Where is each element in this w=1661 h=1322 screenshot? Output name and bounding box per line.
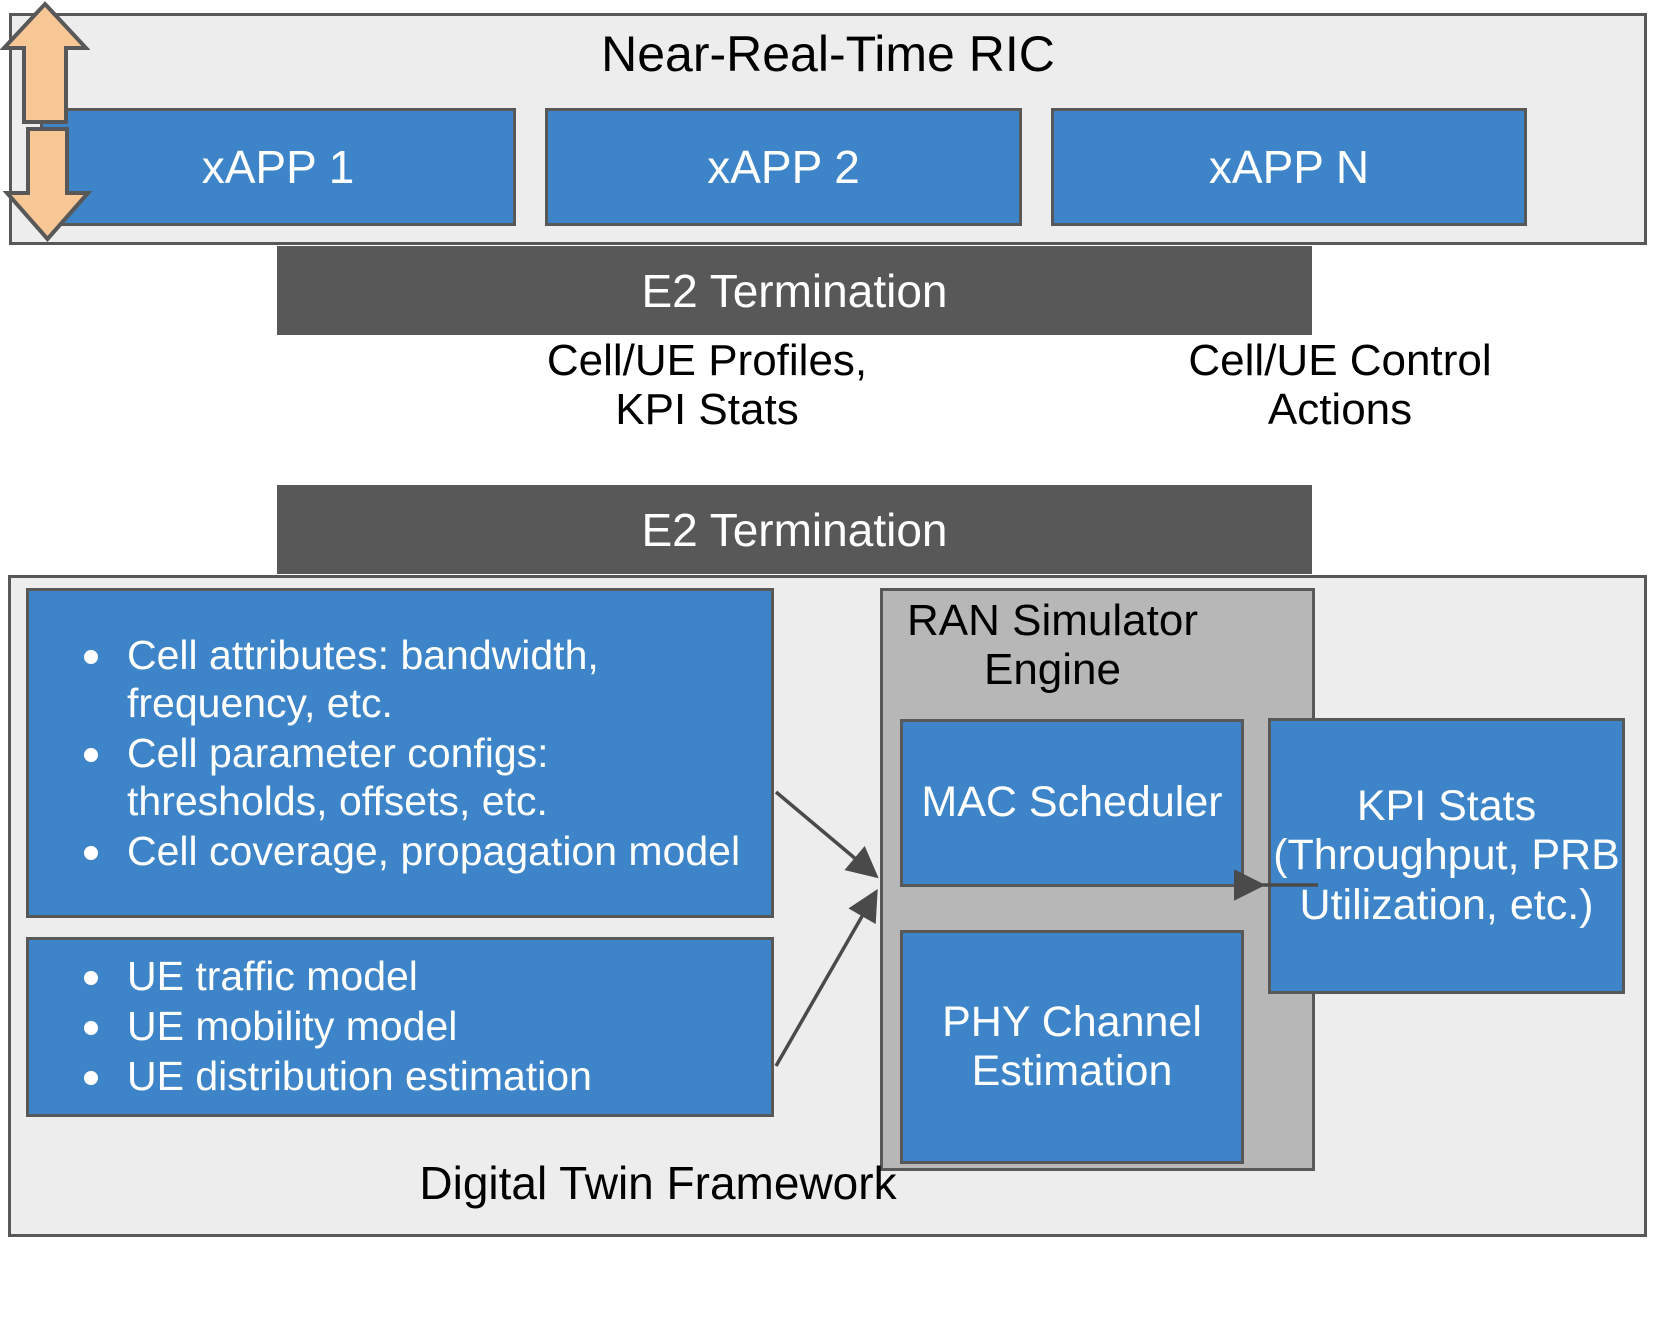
arrow-down-icon	[0, 125, 95, 243]
list-item: Cell attributes: bandwidth, frequency, e…	[29, 632, 755, 728]
ric-title: Near-Real-Time RIC	[9, 26, 1647, 82]
list-item-label: UE mobility model	[127, 1003, 457, 1049]
list-item: UE traffic model	[29, 953, 755, 1001]
list-item-label: Cell attributes: bandwidth, frequency, e…	[127, 632, 599, 726]
list-item-label: Cell coverage, propagation model	[127, 828, 740, 874]
xapp-2-label: xAPP 2	[707, 140, 860, 194]
bullet-dot-icon	[84, 650, 98, 664]
xapp-1-label: xAPP 1	[202, 140, 355, 194]
digital-twin-framework-title: Digital Twin Framework	[8, 1158, 1308, 1210]
architecture-diagram: Near-Real-Time RIC xAPP 1 xAPP 2 xAPP N …	[0, 0, 1661, 1322]
e2-termination-top-bar: E2 Termination	[277, 246, 1312, 335]
bullet-dot-icon	[84, 1021, 98, 1035]
kpi-stats-box: KPI Stats (Throughput, PRB Utilization, …	[1268, 718, 1625, 994]
ran-simulator-engine-title: RAN Simulator Engine	[880, 596, 1225, 695]
mac-scheduler-box: MAC Scheduler	[900, 719, 1244, 887]
list-item: Cell coverage, propagation model	[29, 828, 755, 876]
xapp-n-label: xAPP N	[1209, 140, 1369, 194]
downlink-flow-label: Cell/UE Control Actions	[1140, 336, 1540, 435]
e2-termination-bottom-label: E2 Termination	[642, 503, 948, 557]
list-item: UE mobility model	[29, 1003, 755, 1051]
list-item-label: UE distribution estimation	[127, 1053, 592, 1099]
uplink-flow-label: Cell/UE Profiles, KPI Stats	[492, 336, 922, 435]
xapp-n-box[interactable]: xAPP N	[1051, 108, 1527, 226]
ue-model-box: UE traffic modelUE mobility modelUE dist…	[26, 937, 774, 1117]
phy-channel-estimation-label: PHY Channel Estimation	[903, 998, 1241, 1096]
ue-model-bullet-list: UE traffic modelUE mobility modelUE dist…	[29, 951, 771, 1103]
bullet-dot-icon	[84, 1071, 98, 1085]
arrow-up-icon	[0, 0, 90, 125]
e2-termination-bottom-bar: E2 Termination	[277, 485, 1312, 574]
list-item: UE distribution estimation	[29, 1053, 755, 1101]
kpi-stats-label: KPI Stats (Throughput, PRB Utilization, …	[1271, 782, 1622, 929]
bullet-dot-icon	[84, 748, 98, 762]
xapp-1-box[interactable]: xAPP 1	[40, 108, 516, 226]
phy-channel-estimation-box: PHY Channel Estimation	[900, 930, 1244, 1164]
e2-termination-top-label: E2 Termination	[642, 264, 948, 318]
cell-model-bullet-list: Cell attributes: bandwidth, frequency, e…	[29, 628, 771, 878]
list-item: Cell parameter configs: thresholds, offs…	[29, 730, 755, 826]
bullet-dot-icon	[84, 971, 98, 985]
bullet-dot-icon	[84, 846, 98, 860]
list-item-label: UE traffic model	[127, 953, 418, 999]
list-item-label: Cell parameter configs: thresholds, offs…	[127, 730, 549, 824]
xapp-2-box[interactable]: xAPP 2	[545, 108, 1022, 226]
mac-scheduler-label: MAC Scheduler	[921, 778, 1222, 827]
cell-model-box: Cell attributes: bandwidth, frequency, e…	[26, 588, 774, 918]
